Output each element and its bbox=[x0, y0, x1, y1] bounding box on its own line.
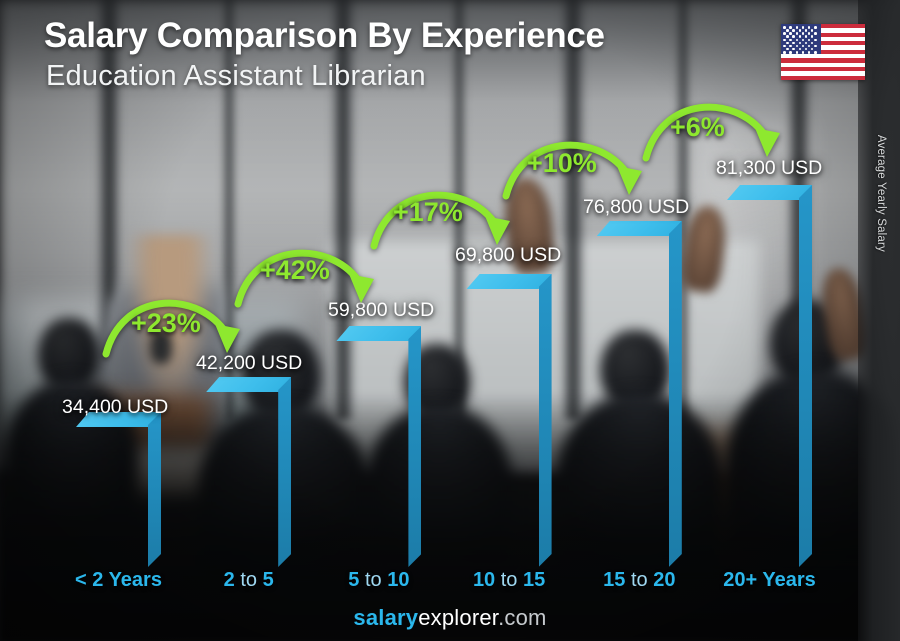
cat-part-a: 10 bbox=[473, 569, 495, 591]
flag-star bbox=[814, 51, 817, 54]
us-flag-icon bbox=[781, 24, 865, 80]
bar-side-face bbox=[799, 185, 812, 567]
bar-front-face bbox=[597, 221, 669, 554]
flag-star bbox=[802, 32, 805, 35]
flag-star bbox=[805, 29, 808, 32]
flag-star bbox=[786, 35, 789, 38]
bar-side-face bbox=[278, 377, 291, 567]
growth-arrow-head bbox=[617, 166, 642, 195]
flag-star bbox=[811, 29, 814, 32]
flag-star bbox=[783, 45, 786, 48]
cat-part-mid: to bbox=[501, 569, 518, 591]
cat-part-a: 5 bbox=[348, 569, 359, 591]
flag-star bbox=[808, 32, 811, 35]
growth-percent-4: +10% bbox=[527, 148, 597, 179]
flag-star bbox=[808, 39, 811, 42]
flag-star bbox=[814, 39, 817, 42]
category-label-4: 10 to 15 bbox=[434, 569, 584, 592]
flag-star bbox=[814, 32, 817, 35]
flag-star bbox=[805, 35, 808, 38]
bar-2[interactable] bbox=[206, 377, 291, 567]
flag-star bbox=[789, 45, 792, 48]
flag-star bbox=[783, 26, 786, 29]
category-label-3: 5 to 10 bbox=[304, 569, 454, 592]
cat-part-b: 10 bbox=[387, 569, 409, 591]
flag-star bbox=[792, 35, 795, 38]
flag-star bbox=[796, 51, 799, 54]
bar-front-face bbox=[467, 274, 539, 554]
bar-side-face bbox=[148, 412, 161, 567]
page-title: Salary Comparison By Experience bbox=[44, 16, 605, 56]
flag-star bbox=[783, 51, 786, 54]
flag-star bbox=[792, 29, 795, 32]
cat-part-b: 20 bbox=[653, 569, 675, 591]
flag-star bbox=[799, 42, 802, 45]
category-label-6: 20+ Years bbox=[695, 569, 845, 592]
flag-star bbox=[802, 39, 805, 42]
cat-part-mid: to bbox=[365, 569, 382, 591]
growth-arrow-head bbox=[485, 216, 510, 245]
flag-star bbox=[802, 45, 805, 48]
cat-part-mid: to bbox=[240, 569, 257, 591]
flag-star bbox=[811, 42, 814, 45]
category-label-1: < 2 Years bbox=[44, 569, 194, 592]
bar-6[interactable] bbox=[727, 185, 812, 567]
cat-part-mid: to bbox=[631, 569, 648, 591]
category-label-5: 15 to 20 bbox=[564, 569, 714, 592]
flag-star bbox=[796, 26, 799, 29]
flag-star bbox=[814, 45, 817, 48]
growth-percent-1: +23% bbox=[131, 308, 201, 339]
page-subtitle: Education Assistant Librarian bbox=[46, 60, 426, 93]
bar-side-face bbox=[669, 221, 682, 567]
flag-star bbox=[811, 48, 814, 51]
chart-screenshot: Average Yearly Salary Salary Comparison … bbox=[0, 0, 900, 641]
flag-star bbox=[789, 39, 792, 42]
flag-star bbox=[796, 45, 799, 48]
growth-arrow-head bbox=[215, 324, 240, 353]
flag-star bbox=[786, 42, 789, 45]
bar-4[interactable] bbox=[467, 274, 552, 567]
brand-tld: .com bbox=[498, 605, 546, 630]
flag-star bbox=[799, 35, 802, 38]
bar-3[interactable] bbox=[336, 326, 421, 567]
cat-part-a: 2 bbox=[224, 569, 235, 591]
flag-star bbox=[811, 35, 814, 38]
growth-arrow-head bbox=[755, 128, 780, 157]
flag-star bbox=[799, 29, 802, 32]
bar-side-face bbox=[408, 326, 421, 567]
cat-part-b: 5 bbox=[263, 569, 274, 591]
y-axis-label: Average Yearly Salary bbox=[875, 135, 887, 252]
bar-front-face bbox=[206, 377, 278, 554]
growth-arrow-head bbox=[349, 274, 374, 303]
bar-1[interactable] bbox=[76, 412, 161, 567]
site-brand: salaryexplorer.com bbox=[0, 605, 900, 631]
flag-star bbox=[808, 51, 811, 54]
flag-star bbox=[786, 48, 789, 51]
growth-percent-3: +17% bbox=[393, 197, 463, 228]
bar-front-face bbox=[727, 185, 799, 554]
value-label-1: 34,400 USD bbox=[62, 396, 168, 419]
flag-star bbox=[783, 39, 786, 42]
flag-star bbox=[808, 45, 811, 48]
growth-percent-2: +42% bbox=[260, 255, 330, 286]
flag-star bbox=[799, 48, 802, 51]
y-axis-strip bbox=[858, 0, 900, 641]
flag-star bbox=[796, 32, 799, 35]
bar-side-face bbox=[539, 274, 552, 567]
flag-canton bbox=[781, 24, 821, 54]
flag-star bbox=[789, 26, 792, 29]
bar-front-face bbox=[76, 412, 148, 554]
flag-star bbox=[814, 26, 817, 29]
bar-front-face bbox=[336, 326, 408, 554]
flag-star bbox=[792, 48, 795, 51]
flag-star bbox=[789, 51, 792, 54]
brand-salary: salary bbox=[353, 605, 418, 630]
bar-5[interactable] bbox=[597, 221, 682, 567]
growth-percent-5: +6% bbox=[670, 112, 725, 143]
flag-star bbox=[805, 42, 808, 45]
flag-star bbox=[802, 26, 805, 29]
flag-star bbox=[805, 48, 808, 51]
cat-part-b: 15 bbox=[523, 569, 545, 591]
category-label-2: 2 to 5 bbox=[174, 569, 324, 592]
flag-star bbox=[802, 51, 805, 54]
flag-star bbox=[796, 39, 799, 42]
cat-part-a: 15 bbox=[603, 569, 625, 591]
flag-star bbox=[808, 26, 811, 29]
brand-explorer: explorer bbox=[418, 605, 498, 630]
flag-star bbox=[792, 42, 795, 45]
